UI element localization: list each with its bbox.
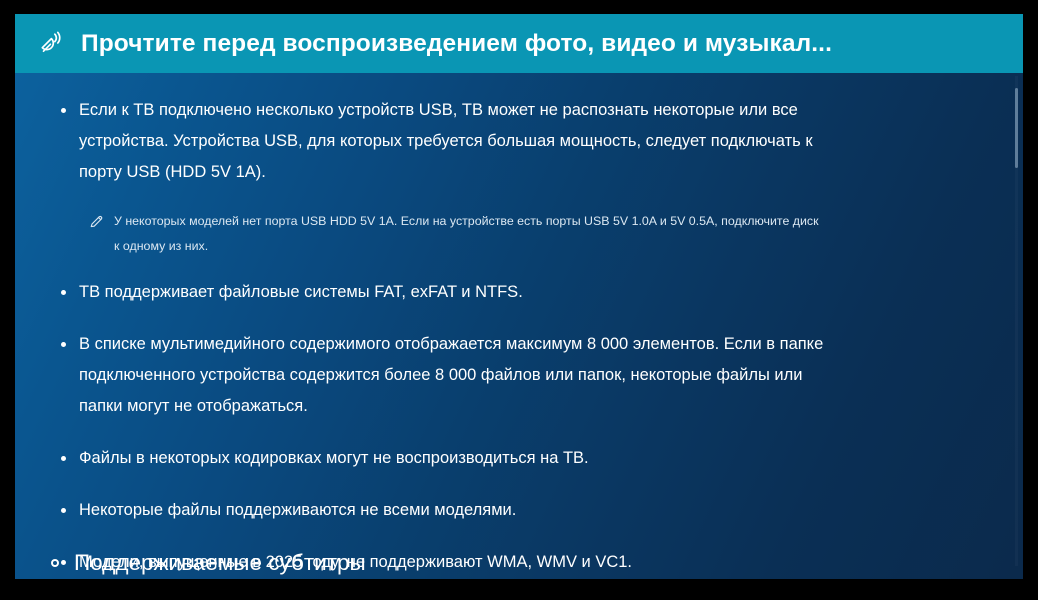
help-content: Если к ТВ подключено несколько устройств… [15, 73, 1023, 579]
hollow-circle-icon [51, 559, 59, 567]
list-item-text: ТВ поддерживает файловые системы FAT, ex… [79, 283, 523, 301]
help-panel: Прочтите перед воспроизведением фото, ви… [15, 14, 1023, 579]
tv-screen: Прочтите перед воспроизведением фото, ви… [0, 0, 1038, 600]
satellite-dish-icon [38, 29, 68, 59]
section-heading-label: Поддерживаемые субтитры [74, 550, 366, 576]
list-item-text: В списке мультимедийного содержимого ото… [79, 335, 823, 415]
note-wrapper: У некоторых моделей нет порта USB HDD 5V… [51, 209, 987, 259]
list-item: Некоторые файлы поддерживаются не всеми … [51, 495, 824, 526]
list-item-text: Некоторые файлы поддерживаются не всеми … [79, 501, 516, 519]
list-item-text: Если к ТВ подключено несколько устройств… [79, 101, 813, 181]
page-title: Прочтите перед воспроизведением фото, ви… [81, 30, 832, 58]
note-block: У некоторых моделей нет порта USB HDD 5V… [89, 209, 826, 259]
notes-list: Если к ТВ подключено несколько устройств… [51, 95, 987, 578]
list-item: Если к ТВ подключено несколько устройств… [51, 95, 824, 188]
list-item: Файлы в некоторых кодировках могут не во… [51, 443, 824, 474]
note-text: У некоторых моделей нет порта USB HDD 5V… [114, 214, 819, 253]
scrollbar-vertical[interactable] [1015, 76, 1018, 566]
pencil-icon [89, 213, 104, 228]
panel-header: Прочтите перед воспроизведением фото, ви… [15, 14, 1023, 73]
list-item: ТВ поддерживает файловые системы FAT, ex… [51, 277, 824, 308]
list-item: В списке мультимедийного содержимого ото… [51, 329, 824, 422]
list-item-text: Файлы в некоторых кодировках могут не во… [79, 449, 589, 467]
section-heading-supported-subtitles[interactable]: Поддерживаемые субтитры [51, 550, 366, 576]
scrollbar-thumb[interactable] [1015, 88, 1018, 168]
